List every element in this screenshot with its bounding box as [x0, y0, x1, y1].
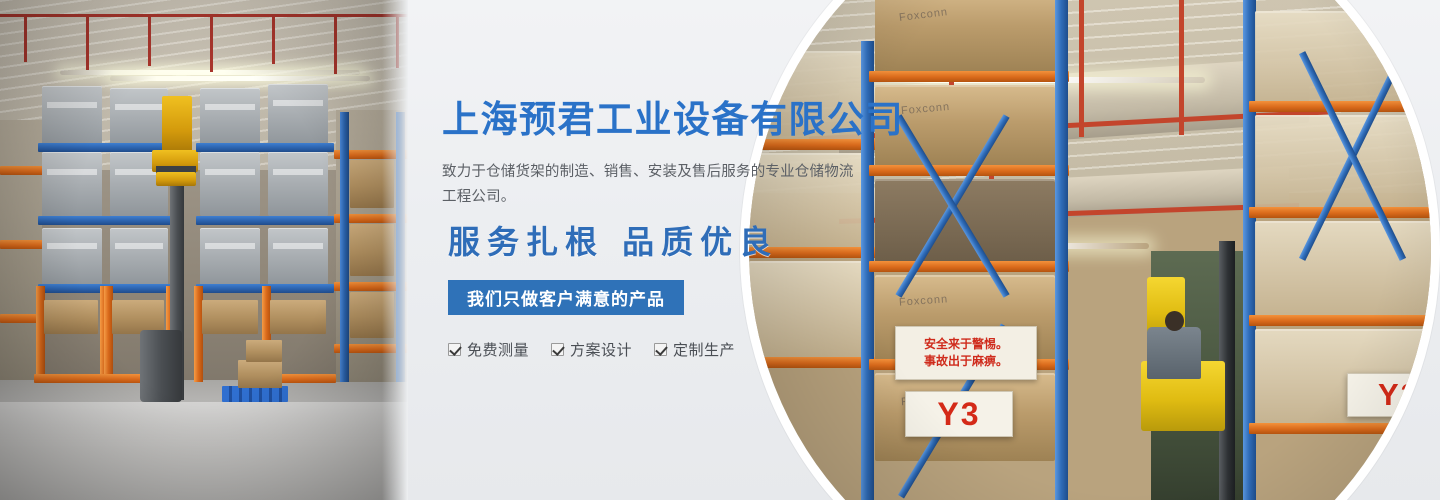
feature-item: 免费测量 — [448, 339, 529, 360]
feature-label: 方案设计 — [570, 339, 632, 360]
feature-item: 定制生产 — [654, 339, 735, 360]
company-subtitle: 致力于仓储货架的制造、销售、安装及售后服务的专业仓储物流工程公司。 — [442, 160, 862, 211]
check-box-icon — [551, 343, 564, 356]
photo-vignette — [0, 0, 408, 500]
right-warehouse-photo: Foxconn Foxconn Foxconn Foxconn — [920, 0, 1440, 500]
company-slogan: 服务扎根 品质优良 — [448, 226, 778, 258]
company-title: 上海预君工业设备有限公司 — [442, 101, 904, 138]
hero-content: 上海预君工业设备有限公司 致力于仓储货架的制造、销售、安装及售后服务的专业仓储物… — [442, 0, 962, 500]
feature-item: 方案设计 — [551, 339, 632, 360]
left-warehouse-photo: D-07 D-06 D-05 — [0, 0, 408, 500]
company-hero-banner: D-07 D-06 D-05 — [0, 0, 1440, 500]
feature-label: 免费测量 — [467, 339, 529, 360]
check-box-icon — [654, 343, 667, 356]
check-box-icon — [448, 343, 461, 356]
photo-edge-fade — [382, 0, 408, 500]
feature-label: 定制生产 — [673, 339, 735, 360]
cta-button[interactable]: 我们只做客户满意的产品 — [448, 280, 684, 315]
feature-list: 免费测量 方案设计 定制生产 — [448, 339, 735, 360]
